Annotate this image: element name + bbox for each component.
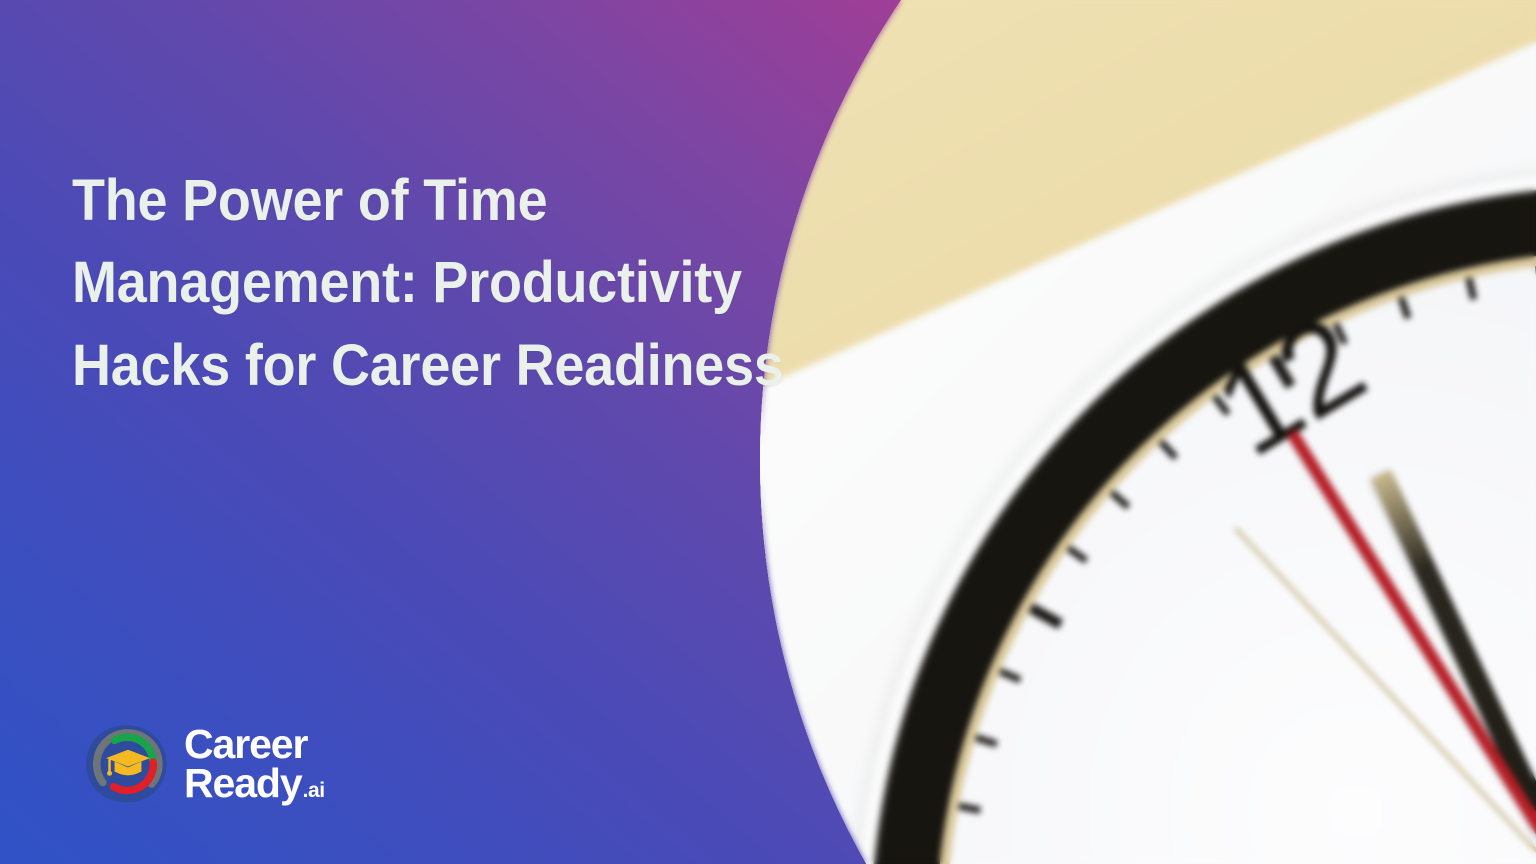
clock-minute-tick	[1397, 297, 1411, 320]
graduation-cap-swirl-icon	[86, 722, 170, 806]
clock-minute-tick	[1158, 440, 1178, 461]
clock-minute-tick	[974, 735, 997, 748]
logo-text-ready-line: Ready.ai	[184, 764, 325, 803]
presentation-slide: 12 1 2 The Power of Time Management: Pro…	[0, 0, 1536, 864]
logo-text-ready: Ready	[184, 764, 302, 803]
clock-minute-tick	[958, 803, 981, 814]
clock-numeral-1: 1	[1475, 240, 1536, 371]
clock-photo: 12 1 2	[760, 0, 1536, 864]
clock-minute-tick	[1066, 546, 1088, 564]
logo-text-career: Career	[184, 725, 325, 764]
clock-minute-tick	[1109, 490, 1130, 510]
slide-headline: The Power of Time Management: Productivi…	[72, 160, 890, 407]
logo-wordmark: Career Ready.ai	[184, 725, 325, 804]
careerready-logo[interactable]: Career Ready.ai	[86, 722, 325, 806]
logo-text-ai: .ai	[303, 781, 325, 801]
clock-photo-disc: 12 1 2	[760, 0, 1536, 864]
clock-minute-tick	[998, 668, 1021, 683]
clock-hour-tick	[1028, 603, 1063, 629]
